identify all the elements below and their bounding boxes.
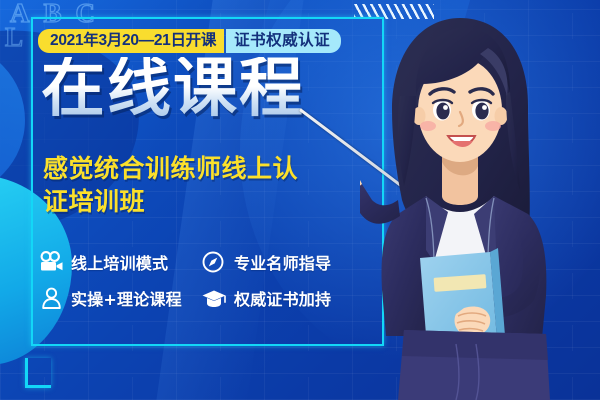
poster-subtitle: 感觉统合训练师线上认 证培训班 xyxy=(43,152,343,218)
feature-item: 专业名师指导 xyxy=(201,250,371,274)
feature-item: 实操+理论课程 xyxy=(38,286,201,310)
poster-main-title: 在线课程 xyxy=(41,57,305,121)
video-camera-icon xyxy=(38,250,64,274)
feature-label: 实操+理论课程 xyxy=(71,286,182,310)
certificate-authority-badge: 证书权威认证 xyxy=(226,29,341,53)
subtitle-line-2: 证培训班 xyxy=(43,185,343,218)
feature-list: 线上培训模式 专业名师指导 实操+理论课程 xyxy=(38,250,378,310)
compass-icon xyxy=(201,250,227,274)
feature-item: 线上培训模式 xyxy=(38,250,201,274)
badge-row: 2021年3月20—21日开课 证书权威认证 xyxy=(38,29,341,53)
decor-corner-bracket xyxy=(25,358,51,388)
feature-label: 线上培训模式 xyxy=(71,250,168,274)
feature-label: 专业名师指导 xyxy=(234,250,331,274)
subtitle-line-1: 感觉统合训练师线上认 xyxy=(43,152,343,185)
person-icon xyxy=(38,286,64,310)
feature-label: 权威证书加持 xyxy=(234,286,331,310)
graduation-cap-icon xyxy=(201,286,227,310)
course-promo-poster: ABC L 2021年3月20—21日开课 证书权威认证 在线课程 感觉统合训练… xyxy=(0,0,600,400)
decor-letter-l: L xyxy=(5,22,23,53)
course-date-badge: 2021年3月20—21日开课 xyxy=(38,29,224,53)
feature-item: 权威证书加持 xyxy=(201,286,371,310)
female-teacher-illustration xyxy=(360,0,600,400)
